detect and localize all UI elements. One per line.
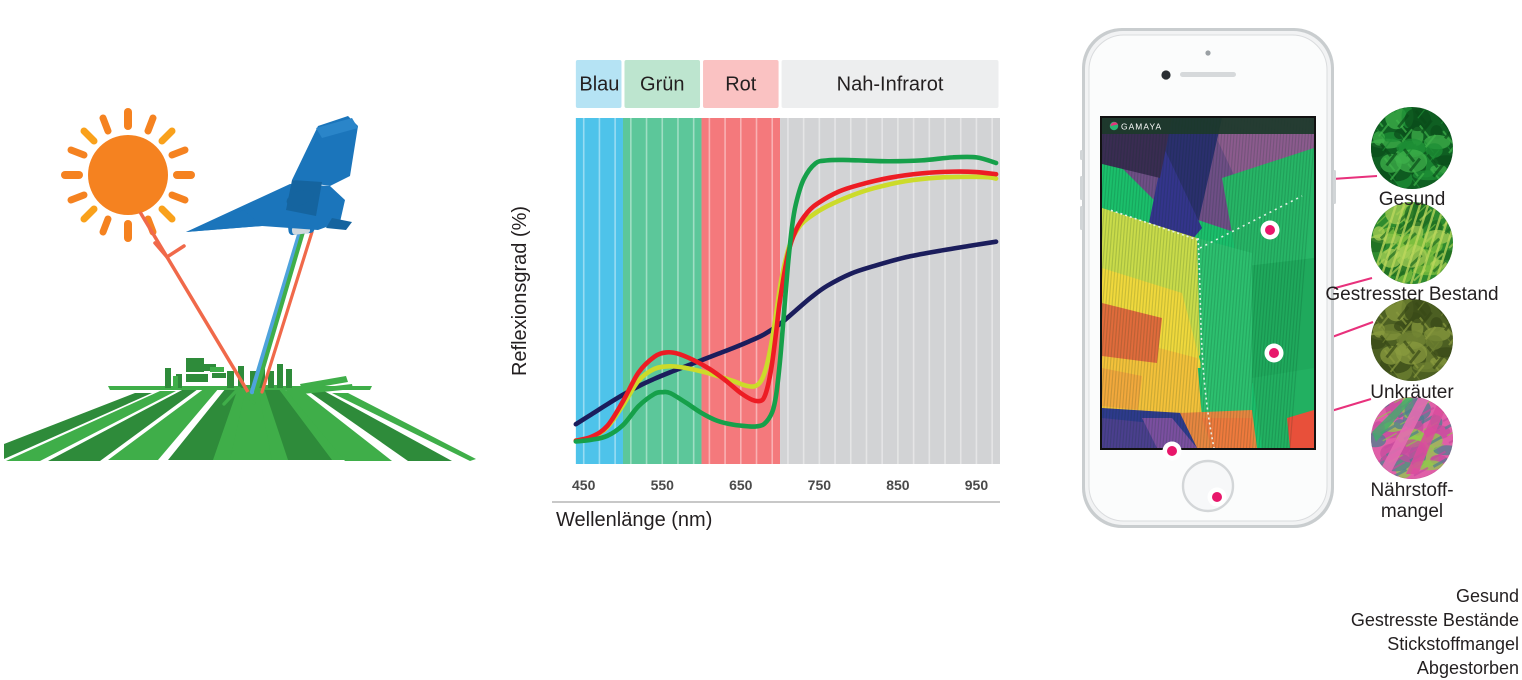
proximity-sensor-icon — [1205, 50, 1210, 55]
marker-gesund-dot — [1265, 225, 1275, 235]
volume-up-button — [1080, 176, 1083, 200]
fixed-wing-drone-icon — [186, 116, 358, 232]
band-label-3: Nah-Infrarot — [837, 73, 944, 95]
earpiece-speaker — [1180, 72, 1236, 77]
marker-gestresster-dot — [1269, 348, 1279, 358]
band-label-2: Rot — [725, 73, 757, 95]
mobile-app-callouts: GAMAYAGAMAYAGesundGestresster BestandUnk… — [1060, 0, 1522, 660]
callout-label-unkraeuter: Unkräuter — [1370, 382, 1454, 403]
remote-sensing-illustration — [0, 40, 480, 660]
x-axis-title: Wellenlänge (nm) — [556, 509, 712, 531]
infographic-root: BlauGrünRotNah-Infrarot15%30%45%60%75%45… — [0, 0, 1522, 660]
callout-label-gestresster: Gestresster Bestand — [1325, 284, 1498, 305]
x-tick-1: 550 — [651, 477, 675, 493]
app-map-view[interactable]: GAMAYA — [1076, 118, 1316, 448]
volume-down-button — [1080, 206, 1083, 230]
legend-label-3: Abgestorben — [1417, 658, 1519, 679]
x-tick-5: 950 — [965, 477, 989, 493]
power-button — [1333, 170, 1336, 204]
marker-naehrstoff-dot — [1212, 492, 1222, 502]
x-tick-4: 850 — [886, 477, 910, 493]
crop-field-icon — [4, 358, 476, 461]
x-tick-3: 750 — [808, 477, 832, 493]
thumbnail-gesund[interactable] — [1365, 95, 1463, 200]
marker-unkraeuter-dot — [1167, 446, 1177, 456]
callout-label-naehrstoff: Nährstoff-mangel — [1370, 480, 1453, 522]
app-name-label: GAMAYA — [1121, 122, 1162, 132]
x-tick-0: 450 — [572, 477, 596, 493]
sun-icon — [65, 112, 191, 238]
mute-switch — [1080, 150, 1083, 160]
callout-label-gesund: Gesund — [1379, 189, 1446, 210]
y-axis-title: Reflexionsgrad (%) — [509, 206, 531, 376]
band-label-1: Grün — [640, 73, 684, 95]
reflectance-chart: BlauGrünRotNah-Infrarot15%30%45%60%75%45… — [500, 46, 1040, 646]
home-button — [1183, 461, 1233, 511]
band-label-0: Blau — [579, 73, 619, 95]
front-camera-icon — [1161, 70, 1170, 79]
x-tick-2: 650 — [729, 477, 753, 493]
